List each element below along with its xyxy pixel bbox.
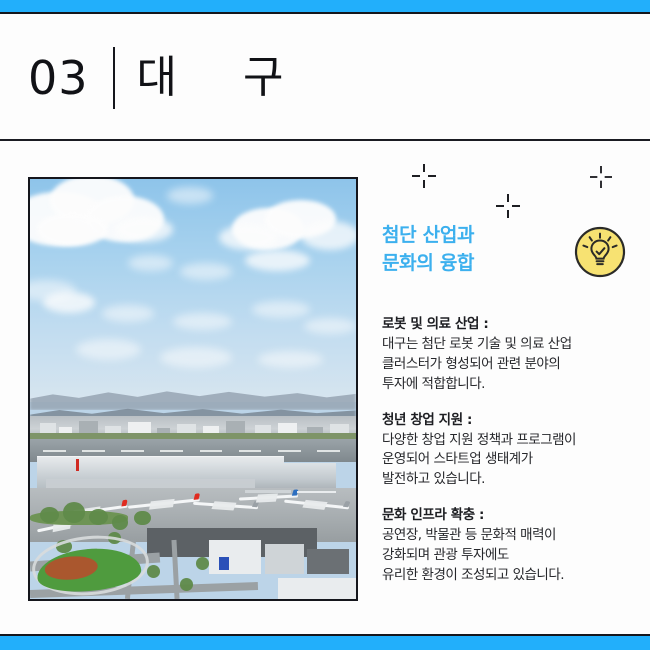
sparkle-plus-middle-icon [496,194,520,222]
bottom-brand-bar [0,634,650,650]
section-title: 문화 인프라 확충 : [382,503,638,523]
section-body: 다양한 창업 지원 정책과 프로그램이 운영되어 스타트업 생태계가 발전하고 … [382,431,638,491]
section-youth-startup: 청년 창업 지원 : 다양한 창업 지원 정책과 프로그램이 운영되어 스타트업… [382,408,638,491]
top-brand-bar [0,0,650,14]
section-title: 청년 창업 지원 : [382,408,638,428]
sparkle-decorations [382,160,634,230]
content-sections: 로봇 및 의료 산업 : 대구는 첨단 로봇 기술 및 의료 산업 클러스터가 … [382,312,638,599]
airport-photo-image [30,179,356,599]
slide-root: 03 대 구 [0,0,650,650]
sparkle-plus-left-icon [412,164,436,192]
lightbulb-icon [572,224,628,280]
section-body: 공연장, 박물관 등 문화적 매력이 강화되며 관광 투자에도 유리한 환경이 … [382,526,638,586]
parked-aircraft [128,496,200,512]
section-robot-medical: 로봇 및 의료 산업 : 대구는 첨단 로봇 기술 및 의료 산업 클러스터가 … [382,312,638,395]
white-building [209,540,261,574]
section-body: 대구는 첨단 로봇 기술 및 의료 산업 클러스터가 형성되어 관련 분야의 투… [382,335,638,395]
slide-header: 03 대 구 [0,16,650,140]
dark-building [307,549,349,574]
blue-marker [219,557,229,570]
terminal-mast [76,459,79,472]
section-culture-infra: 문화 인프라 확충 : 공연장, 박물관 등 문화적 매력이 강화되며 관광 투… [382,503,638,586]
parked-aircraft [284,497,350,513]
airport-photo [28,177,358,601]
header-title-group: 03 대 구 [28,42,310,114]
headline-row: 첨단 산업과 문화의 융합 [382,222,634,300]
page-title: 대 구 [137,56,310,100]
lower-building [278,578,356,599]
sparkle-plus-right-icon [590,166,612,192]
header-divider [0,139,650,141]
header-vertical-rule [113,47,115,109]
content-headline: 첨단 산업과 문화의 융합 [382,222,474,277]
section-title: 로봇 및 의료 산업 : [382,312,638,332]
grey-building [265,544,304,573]
section-number: 03 [28,55,89,101]
